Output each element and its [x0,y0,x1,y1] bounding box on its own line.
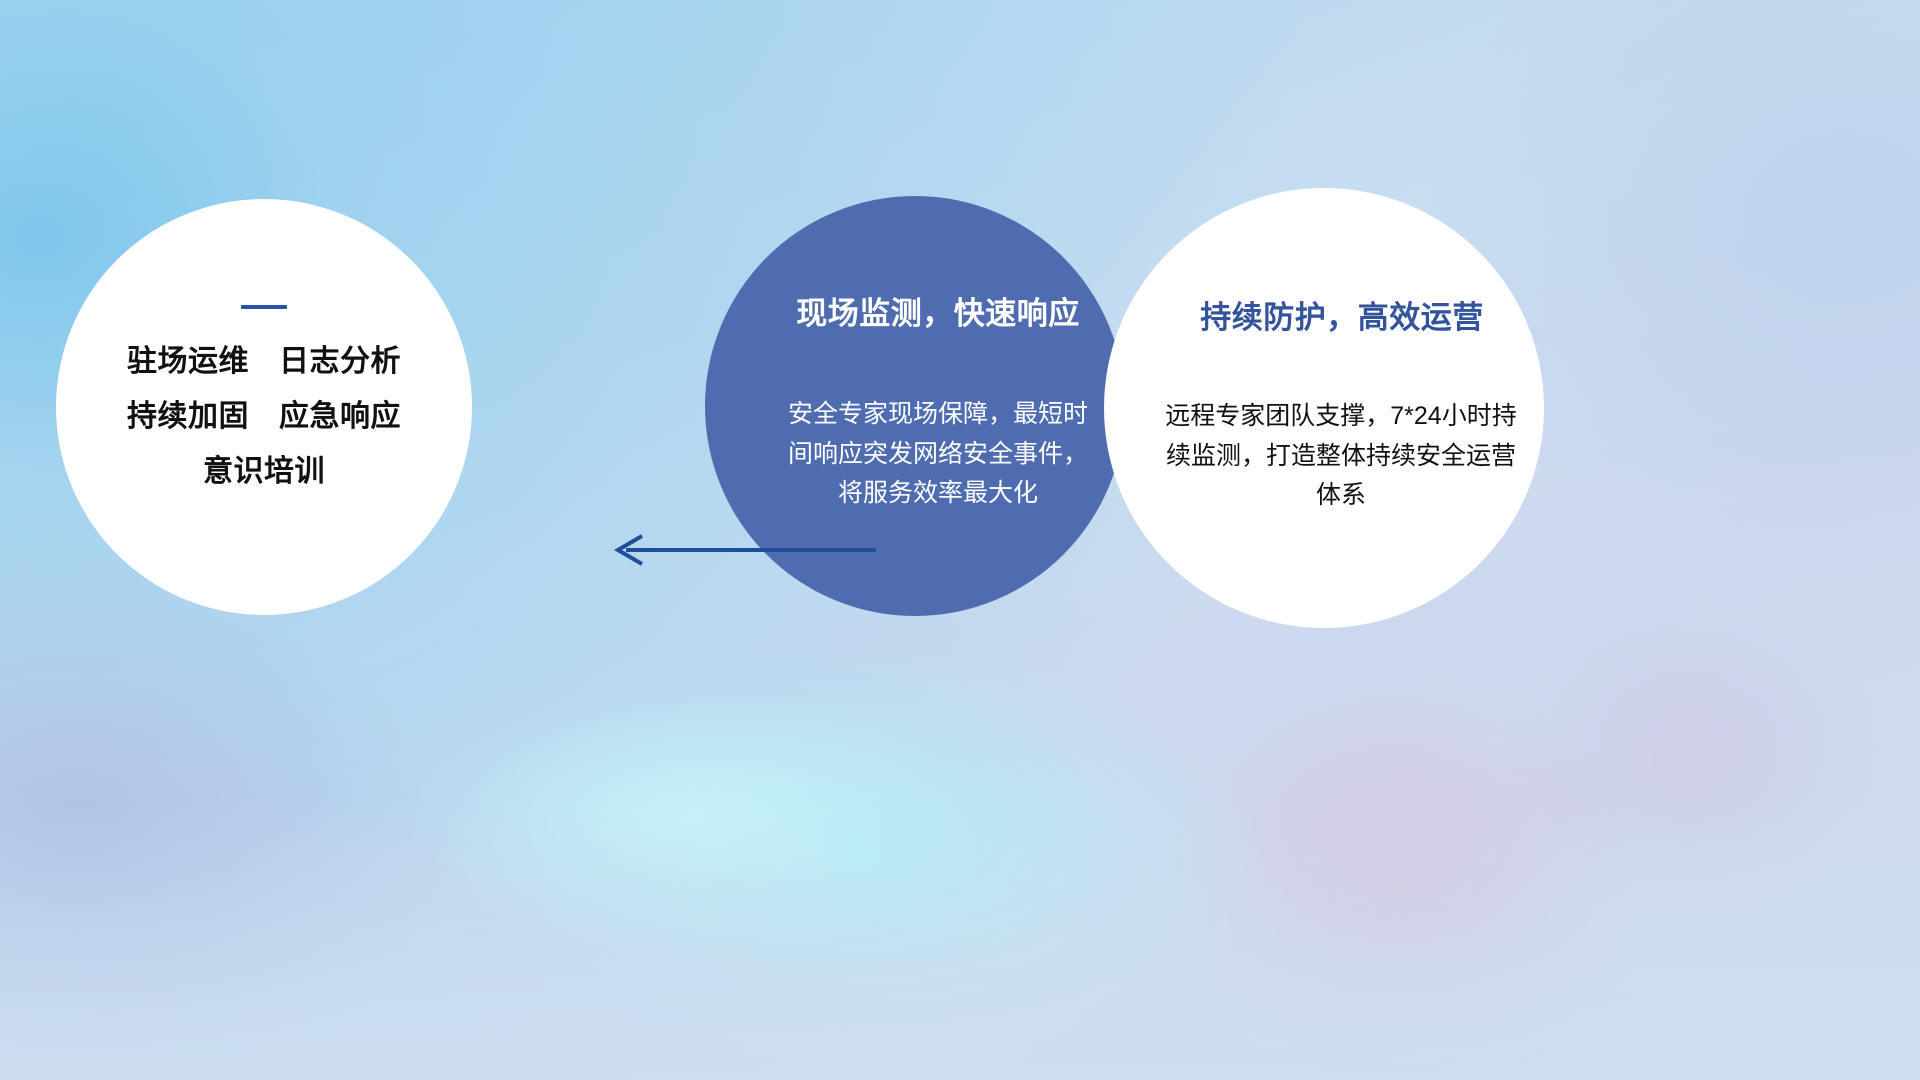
remote-body: 远程专家团队支撑，7*24小时持续监测，打造整体持续安全运营体系 [1163,397,1519,516]
remote-circle-content: 持续防护，高效运营 远程专家团队支撑，7*24小时持续监测，打造整体持续安全运营… [1104,188,1544,628]
services-row: 持续加固 应急响应 [127,402,401,432]
onsite-title: 现场监测，快速响应 [796,288,1080,333]
remote-title: 持续防护，高效运营 [1200,292,1484,337]
services-row: 意识培训 [203,457,325,487]
service-item-yishipeixun: 意识培训 [203,457,325,487]
onsite-body: 安全专家现场保障，最短时间响应突发网络安全事件，将服务效率最大化 [783,395,1093,514]
services-circle-content: 驻场运维 日志分析 持续加固 应急响应 意识培训 [56,199,472,615]
onsite-circle-content: 现场监测，快速响应 安全专家现场保障，最短时间响应突发网络安全事件，将服务效率最… [703,196,1127,616]
service-item-yingjixiangying: 应急响应 [279,402,401,432]
slide-canvas: 驻场运维 日志分析 持续加固 应急响应 意识培训 现场监测，快速响应 安全专家现… [0,0,1920,1080]
divider-line [241,305,287,309]
service-item-zhuchangyunwei: 驻场运维 [127,347,249,377]
service-item-chixujiagu: 持续加固 [127,402,249,432]
services-row: 驻场运维 日志分析 [127,347,401,377]
service-item-rizhifenxi: 日志分析 [279,347,401,377]
